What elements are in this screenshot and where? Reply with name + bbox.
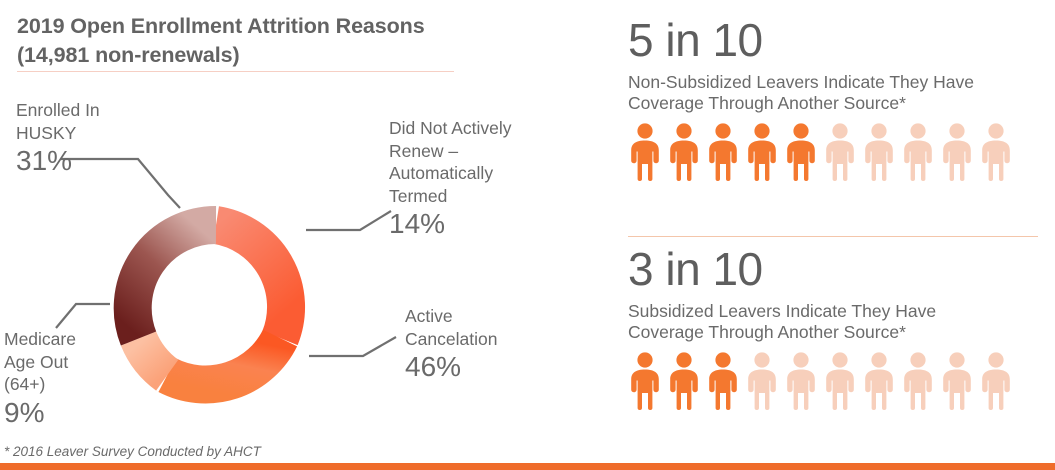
callout-medicare-label: Medicare Age Out (64+) xyxy=(4,328,154,396)
footnote-source: * 2016 Leaver Survey Conducted by AHCT xyxy=(4,444,261,459)
stat-headline-subsidized: 3 in 10 xyxy=(628,243,1038,295)
person-icon xyxy=(901,123,935,181)
person-icon xyxy=(979,352,1013,410)
person-icon xyxy=(706,123,740,181)
callout-medicare: Medicare Age Out (64+) 9% xyxy=(4,328,154,429)
pictogram-subsidized xyxy=(628,352,1038,410)
person-icon xyxy=(628,123,662,181)
title-underline-rule xyxy=(17,71,454,72)
person-icon xyxy=(940,352,974,410)
callout-active-label: Active Cancelation xyxy=(405,305,595,350)
attrition-chart-panel: 2019 Open Enrollment Attrition Reasons (… xyxy=(0,0,612,470)
person-icon xyxy=(745,352,779,410)
donut-slice-renew xyxy=(216,225,286,338)
stat-block-non-subsidized: 5 in 10 Non-Subsidized Leavers Indicate … xyxy=(628,14,1038,181)
accent-bottom-bar xyxy=(0,463,1055,470)
person-icon xyxy=(940,123,974,181)
callout-husky-percent: 31% xyxy=(16,145,176,177)
person-icon xyxy=(784,123,818,181)
person-icon xyxy=(901,352,935,410)
callout-husky-label: Enrolled In HUSKY xyxy=(16,99,176,144)
person-icon xyxy=(862,123,896,181)
person-icon xyxy=(823,352,857,410)
pictogram-non-subsidized xyxy=(628,123,1038,181)
person-icon xyxy=(628,352,662,410)
person-icon xyxy=(862,352,896,410)
callout-medicare-percent: 9% xyxy=(4,397,154,429)
callout-active: Active Cancelation 46% xyxy=(405,305,595,383)
person-icon xyxy=(745,123,779,181)
person-icon xyxy=(667,123,701,181)
callout-renew-label: Did Not Actively Renew – Automatically T… xyxy=(389,117,579,207)
page-title: 2019 Open Enrollment Attrition Reasons (… xyxy=(17,12,457,70)
stat-description-non-subsidized: Non-Subsidized Leavers Indicate They Hav… xyxy=(628,72,1013,114)
person-icon xyxy=(823,123,857,181)
stat-headline-non-subsidized: 5 in 10 xyxy=(628,14,1038,66)
callout-husky: Enrolled In HUSKY 31% xyxy=(16,99,176,177)
callout-renew: Did Not Actively Renew – Automatically T… xyxy=(389,117,579,240)
donut-slice-husky xyxy=(133,225,216,339)
stat-description-subsidized: Subsidized Leavers Indicate They Have Co… xyxy=(628,301,1013,343)
person-icon xyxy=(784,352,818,410)
section-divider xyxy=(628,236,1038,237)
person-icon xyxy=(706,352,740,410)
person-icon xyxy=(667,352,701,410)
leaver-survey-panel: 5 in 10 Non-Subsidized Leavers Indicate … xyxy=(628,0,1055,470)
stat-block-subsidized: 3 in 10 Subsidized Leavers Indicate They… xyxy=(628,243,1038,410)
callout-active-percent: 46% xyxy=(405,351,595,383)
person-icon xyxy=(979,123,1013,181)
donut-slice-active xyxy=(167,338,280,385)
callout-renew-percent: 14% xyxy=(389,208,579,240)
